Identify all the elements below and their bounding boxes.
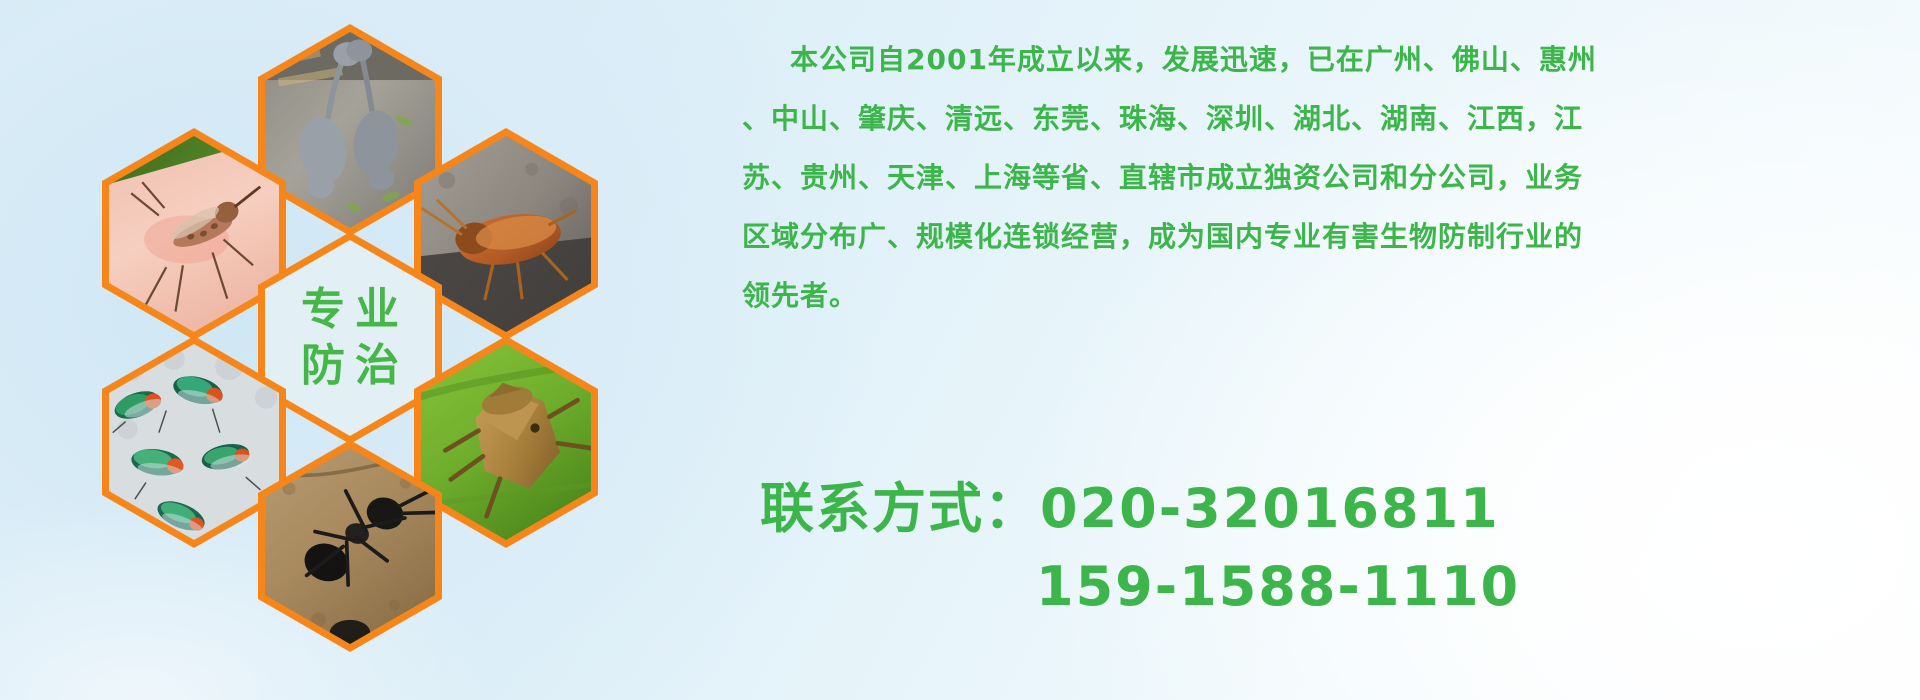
hex-flies-photo: [109, 344, 279, 540]
cockroach-illustration: [421, 136, 591, 332]
contact-phone-secondary[interactable]: 159-1588-1110: [760, 548, 1890, 626]
hex-cockroach-photo: [421, 136, 591, 332]
description-line-5: 领先者。: [742, 270, 1862, 322]
description-line-2: 、中山、肇庆、清远、东莞、珠海、深圳、湖北、湖南、江西，江: [742, 93, 1862, 145]
hexagon-photo-cluster: 专业 防治: [86, 8, 606, 588]
contact-block: 联系方式：020-32016811 159-1588-1110: [760, 470, 1890, 626]
logo-slogan-line2: 防治: [291, 344, 409, 388]
pest-control-banner: 专业 防治: [0, 0, 1920, 700]
logo-slogan: 专业 防治: [265, 240, 435, 436]
description-line-1: 本公司自2001年成立以来，发展迅速，已在广州、佛山、惠州: [742, 34, 1862, 86]
hex-center-surface: 专业 防治: [265, 240, 435, 436]
ant-illustration: [265, 448, 435, 644]
hex-ant-photo: [265, 448, 435, 644]
hex-rats-photo: [265, 32, 435, 228]
hex-mosquito-photo: [109, 136, 279, 332]
rats-illustration: [265, 32, 435, 228]
mosquito-illustration: [109, 136, 279, 332]
flies-illustration: [109, 344, 279, 540]
contact-phone-primary[interactable]: 联系方式：020-32016811: [760, 470, 1890, 548]
description-line-4: 区域分布广、规模化连锁经营，成为国内专业有害生物防制行业的: [742, 211, 1862, 263]
logo-slogan-line1: 专业: [291, 288, 409, 332]
hex-stinkbug-photo: [421, 344, 591, 540]
description-line-3: 苏、贵州、天津、上海等省、直辖市成立独资公司和分公司，业务: [742, 152, 1862, 204]
stinkbug-illustration: [421, 344, 591, 540]
company-description: 本公司自2001年成立以来，发展迅速，已在广州、佛山、惠州 、中山、肇庆、清远、…: [742, 34, 1862, 329]
